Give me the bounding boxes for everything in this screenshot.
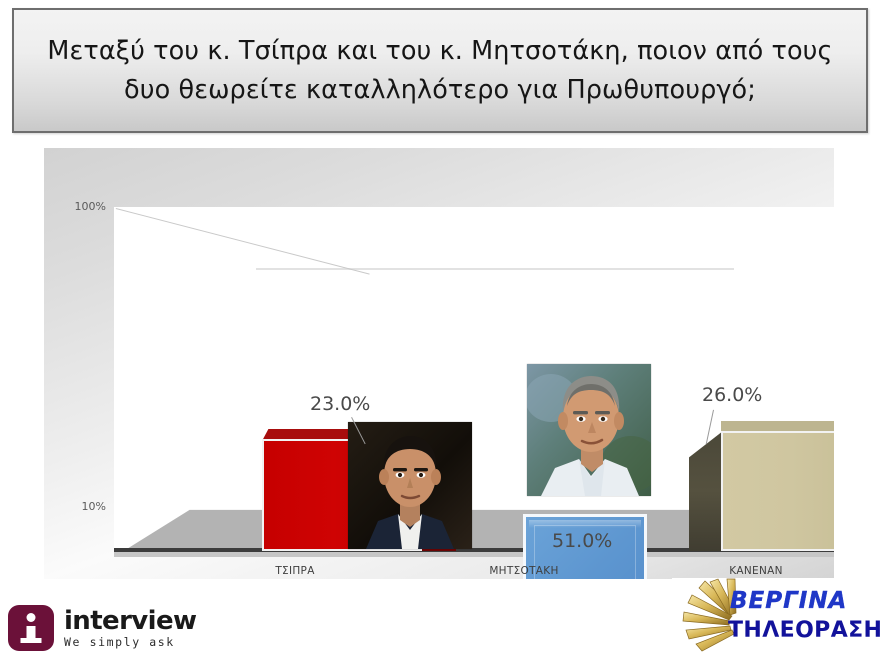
vergina-subtitle: ΤΗΛΕΟΡΑΣΗ [728,618,880,643]
category-axis: ΤΣΙΠΡΑ ΜΗΤΣΟΤΑΚΗ ΚΑΝΕΝΑΝ [114,557,834,579]
interview-logo: interview We simply ask [8,605,196,651]
data-label-tsipra: 23.0% [310,393,370,415]
interview-wordmark: interview We simply ask [64,608,196,649]
vergina-tv-logo: ΒΕΡΓΙΝΑ ΤΗΛΕΟΡΑΣΗ [672,578,872,656]
gridline [256,268,734,270]
question-title-box: Μεταξύ του κ. Τσίπρα και του κ. Μητσοτάκ… [12,8,868,133]
interview-tagline: We simply ask [64,637,196,649]
chart-container: 100% 10% [44,148,834,579]
tsipras-portrait-icon [348,422,472,549]
tsipras-photo [348,422,472,549]
category-label-kanenan: ΚΑΝΕΝΑΝ [729,565,783,577]
mitsotakis-portrait-icon [527,364,651,496]
data-label-kanenan: 26.0% [702,384,762,406]
interview-brand-name: interview [64,608,196,634]
y-axis-tick-10: 10% [60,500,106,513]
y-axis-tick-100: 100% [60,200,106,213]
leader-line-diagonal [116,208,370,275]
vergina-brand-name: ΒΕΡΓΙΝΑ [730,588,847,614]
bar-side-face [689,431,723,551]
plot-area: 23.0% 51.0% 26.0% [114,207,834,557]
category-label-tsipra: ΤΣΙΠΡΑ [275,565,314,577]
bar-kanenan[interactable] [721,431,834,551]
data-label-mitsotaki: 51.0% [552,530,612,552]
bar-front-face [721,431,834,551]
info-icon-dot [27,613,36,622]
mitsotakis-photo [527,364,651,496]
interview-info-icon [8,605,54,651]
page-title: Μεταξύ του κ. Τσίπρα και του κ. Μητσοτάκ… [14,32,866,110]
category-label-mitsotaki: ΜΗΤΣΟΤΑΚΗ [489,565,558,577]
info-icon-base [21,638,42,643]
